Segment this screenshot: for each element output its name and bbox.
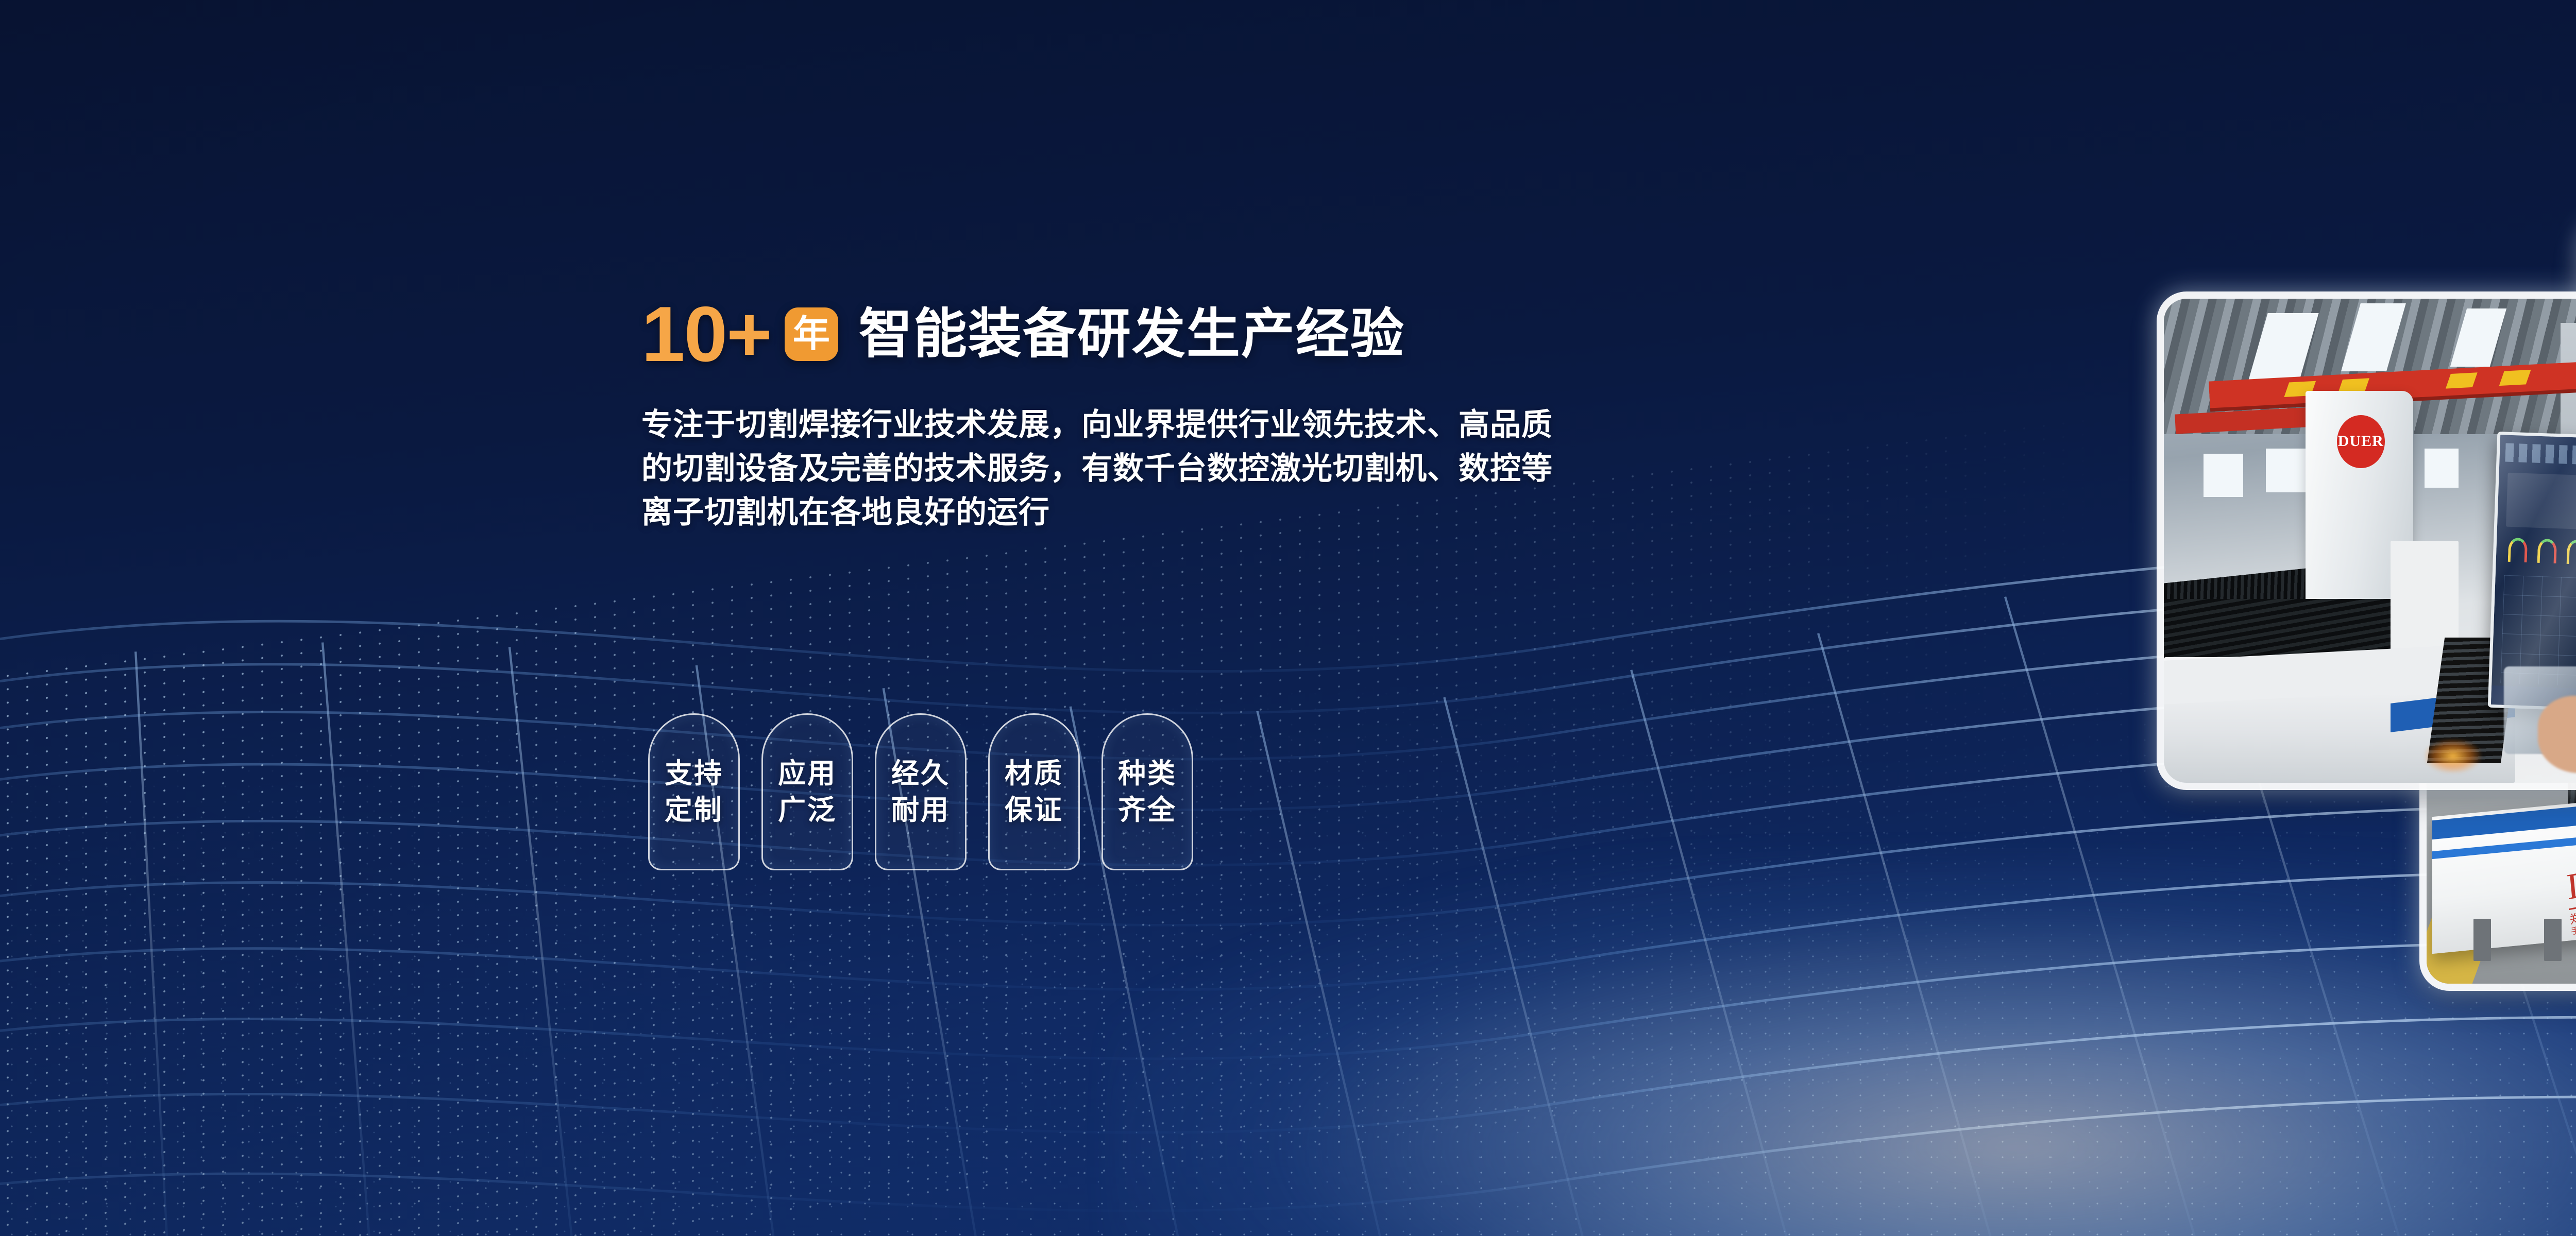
feature-pill-custom[interactable]: 支持 定制 — [648, 713, 740, 870]
description-text: 专注于切割焊接行业技术发展，向业界提供行业领先技术、高品质 的切割设备及完善的技… — [641, 403, 2022, 535]
pill-line-bottom: 耐用 — [891, 795, 950, 825]
feature-pill-row: 支持 定制 应用 广泛 经久 耐用 材质 保证 种类 齐全 — [648, 713, 1193, 870]
pill-line-top: 材质 — [1005, 759, 1063, 788]
pill-line-bottom: 齐全 — [1118, 795, 1177, 825]
pill-line-top: 种类 — [1118, 759, 1177, 788]
pill-line-bottom: 保证 — [1005, 795, 1063, 825]
description-line-1: 专注于切割焊接行业技术发展，向业界提供行业领先技术、高品质 — [641, 403, 2022, 447]
description-line-3: 离子切割机在各地良好的运行 — [641, 490, 2022, 534]
laser-cutter-photo: DUER — [2164, 299, 2576, 783]
pill-line-bottom: 定制 — [665, 795, 723, 825]
headline-block: 10+ 年 智能装备研发生产经验 专注于切割焊接行业技术发展，向业界提供行业领先… — [641, 288, 2239, 535]
duer-logo-icon: DUER — [2337, 415, 2385, 468]
page-title: 智能装备研发生产经验 — [859, 307, 1405, 361]
pill-line-top: 经久 — [891, 759, 950, 788]
years-number: 10+ — [641, 295, 771, 373]
photo-card-laser-cutter[interactable]: DUER — [2164, 299, 2576, 783]
headline-row: 10+ 年 智能装备研发生产经验 — [641, 288, 2239, 380]
feature-pill-durable[interactable]: 经久 耐用 — [875, 713, 967, 870]
year-unit-badge: 年 — [785, 307, 838, 361]
description-line-2: 的切割设备及完善的技术服务，有数千台数控激光切割机、数控等 — [641, 447, 2022, 490]
pill-line-top: 支持 — [665, 759, 723, 788]
duer-logo-text: DUER — [2338, 433, 2384, 450]
promo-banner: 10+ 年 智能装备研发生产经验 专注于切割焊接行业技术发展，向业界提供行业领先… — [0, 0, 2576, 1236]
product-photo-collage: DUER-6020S 郑州杜尔数控设备有限公司 手机TEL：1571380141… — [2138, 196, 2576, 1123]
pill-line-bottom: 广泛 — [778, 795, 837, 825]
feature-pill-material[interactable]: 材质 保证 — [988, 713, 1080, 870]
pill-line-top: 应用 — [778, 759, 837, 788]
feature-pill-application[interactable]: 应用 广泛 — [761, 713, 853, 870]
feature-pill-variety[interactable]: 种类 齐全 — [1101, 713, 1193, 870]
